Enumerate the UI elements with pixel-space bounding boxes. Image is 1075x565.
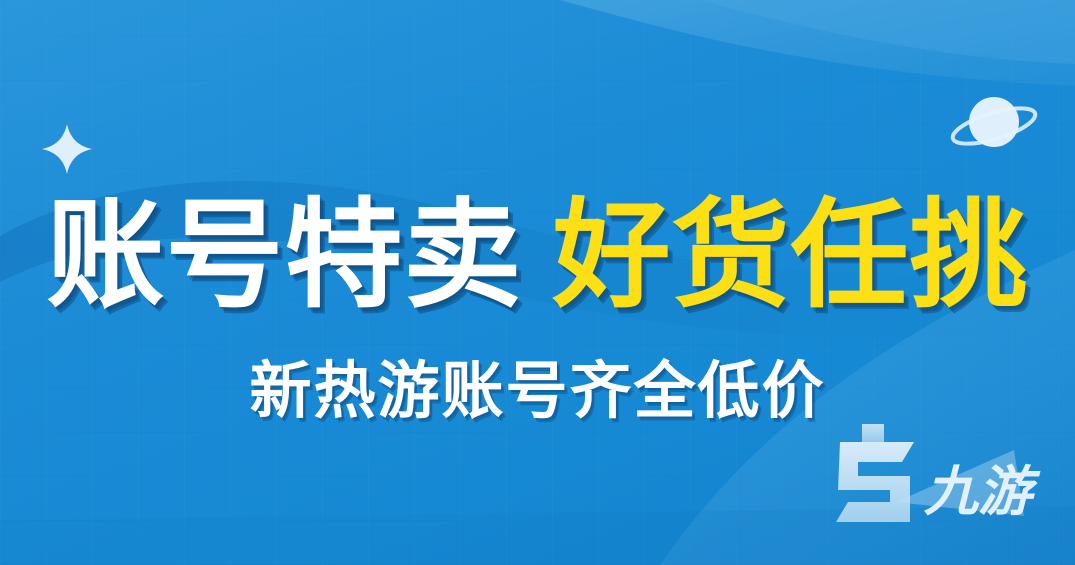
promo-banner: 账号特卖好货任挑 新热游账号齐全低价 九游: [0, 0, 1075, 565]
jiuyou-g-mark: [836, 424, 914, 522]
jiuyou-logo[interactable]: 九游: [818, 424, 1068, 544]
wave-mid: [0, 181, 1075, 338]
jiuyou-wordmark: 九游: [924, 460, 1041, 523]
saturn-planet-icon: [948, 86, 1040, 162]
sparkle-star-icon: [40, 122, 94, 176]
